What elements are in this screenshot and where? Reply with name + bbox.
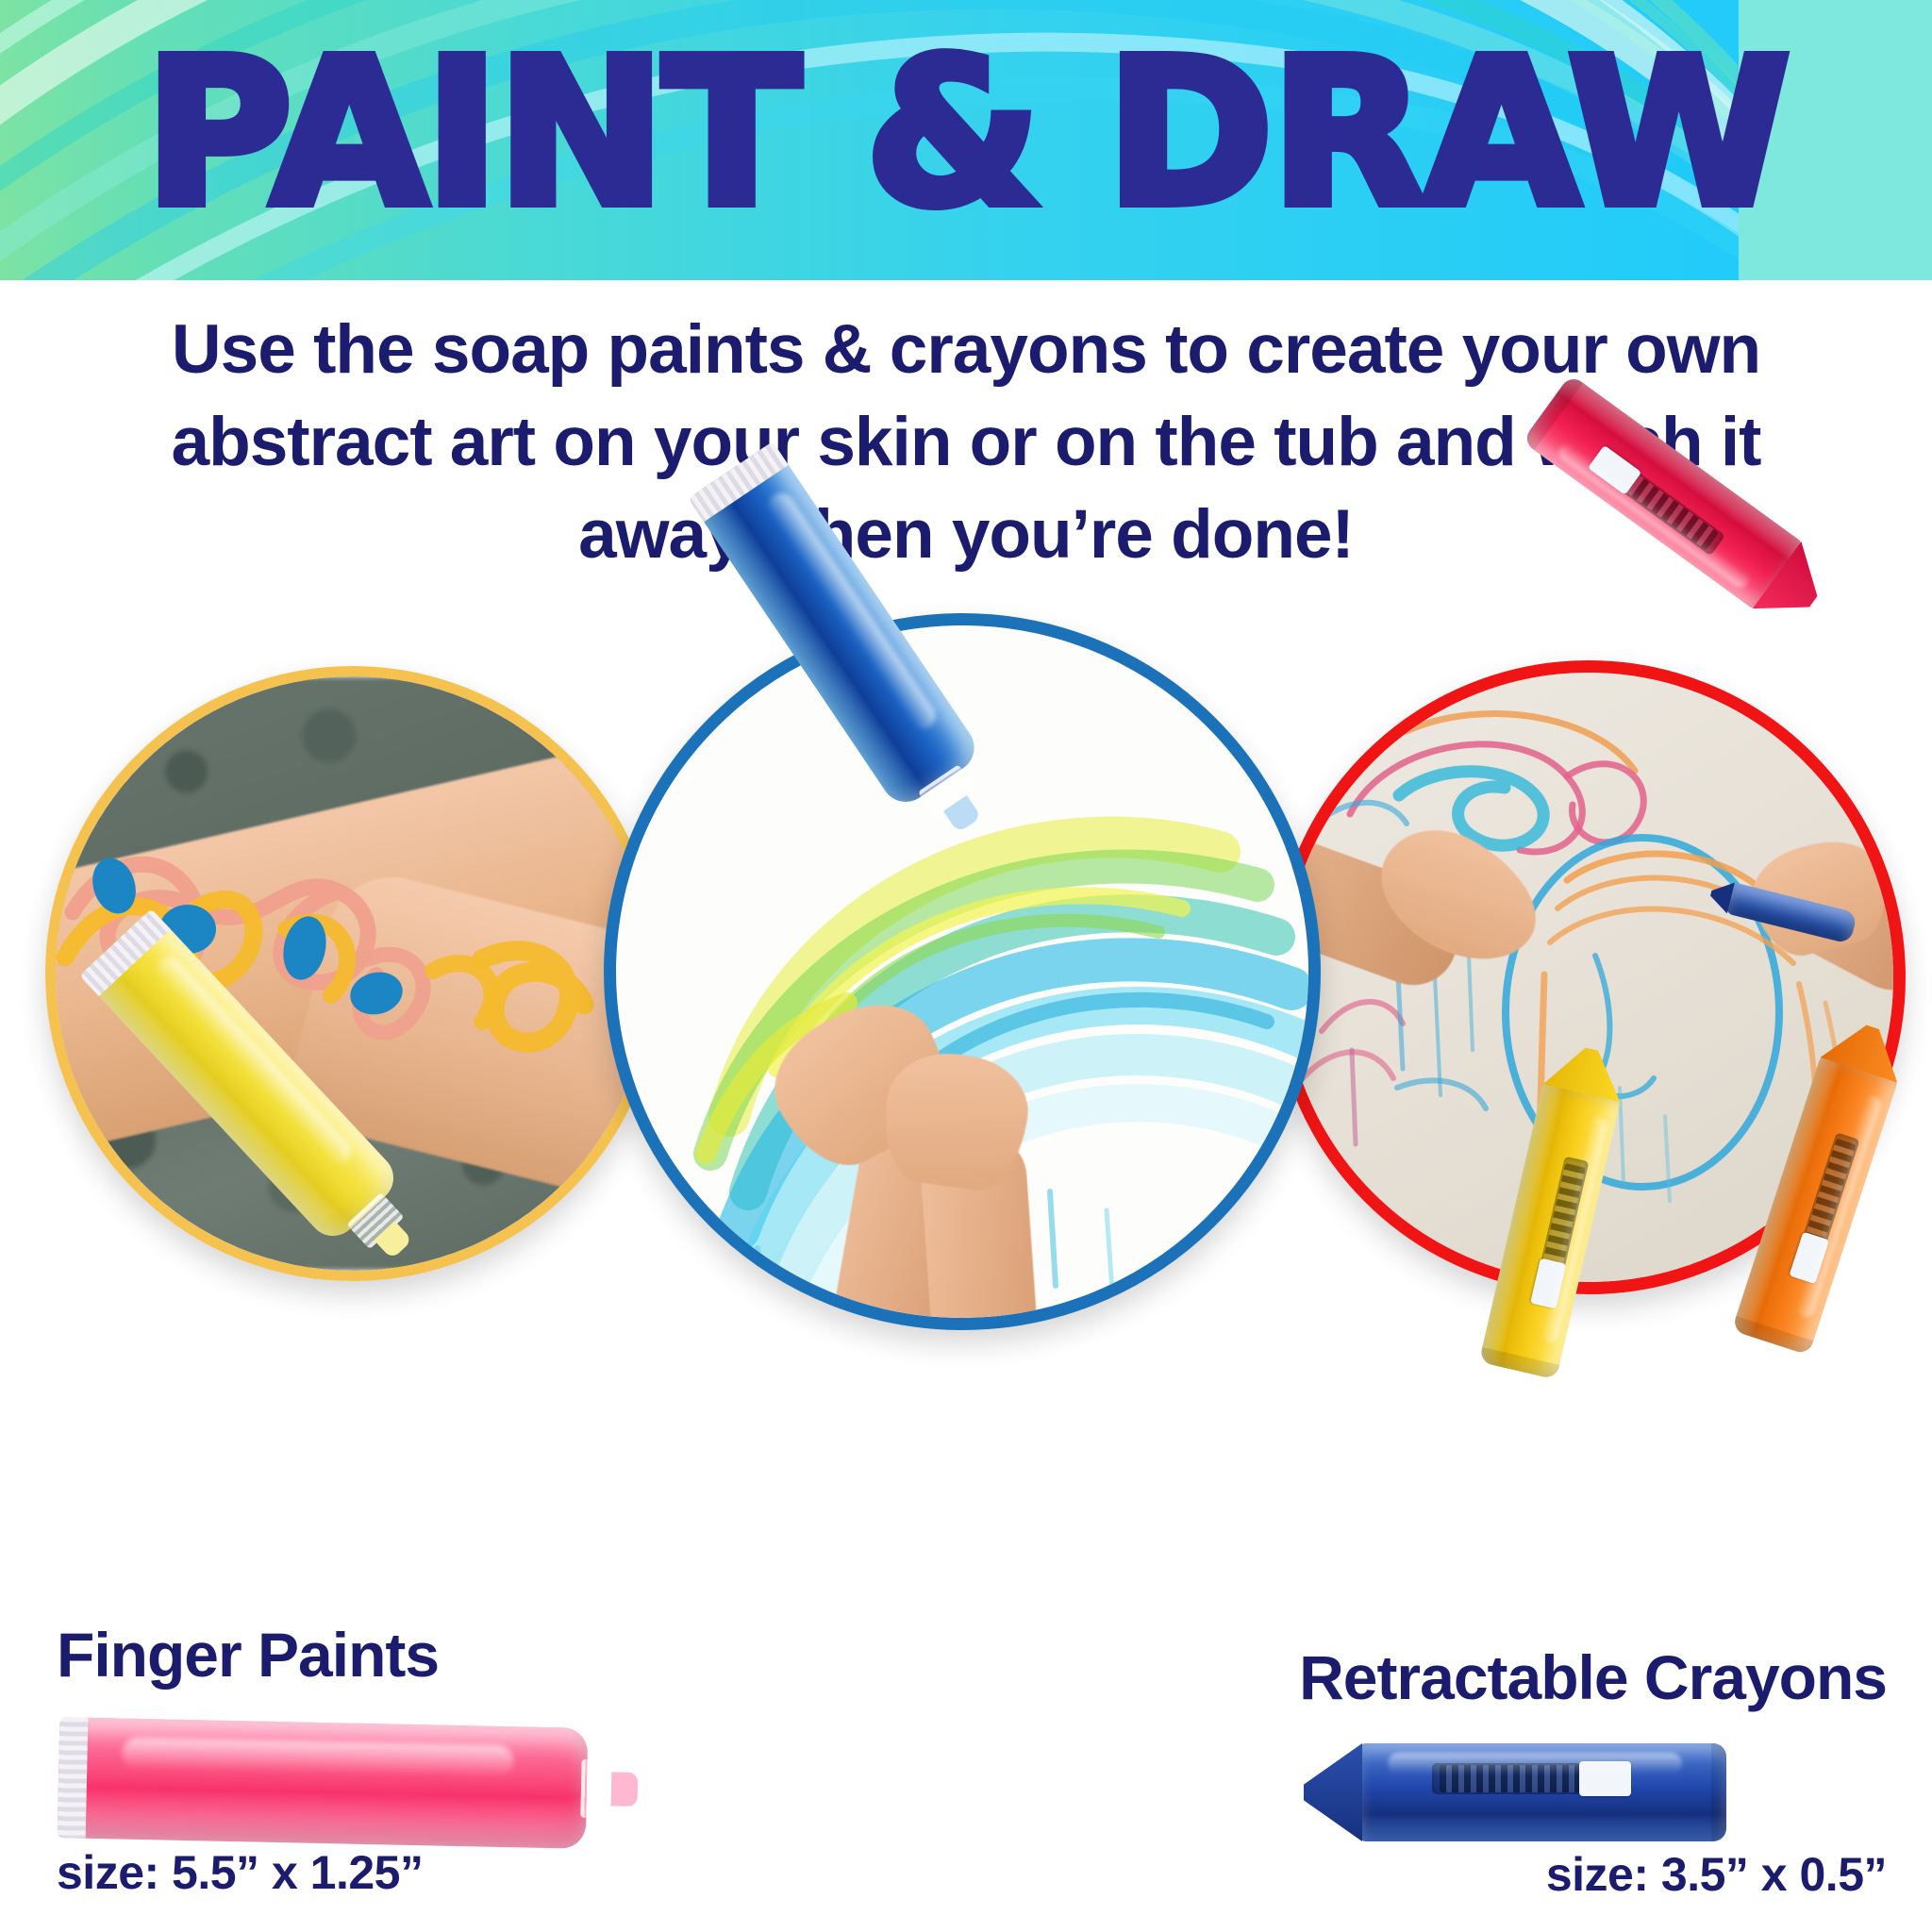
retractable-crayon-product xyxy=(1358,1743,1726,1841)
product-size-retractable-crayons: size: 3.5” x 0.5” xyxy=(1546,1847,1887,1902)
header-banner: PAINT & DRAW xyxy=(0,0,1932,280)
finger-paint-tube-product xyxy=(58,1717,589,1849)
page-title: PAINT & DRAW xyxy=(0,17,1932,251)
product-label-finger-paints: Finger Paints xyxy=(57,1619,439,1690)
product-size-finger-paints: size: 5.5” x 1.25” xyxy=(57,1845,423,1900)
product-label-retractable-crayons: Retractable Crayons xyxy=(1299,1641,1887,1713)
photo-swirl-painting xyxy=(604,613,1321,1330)
